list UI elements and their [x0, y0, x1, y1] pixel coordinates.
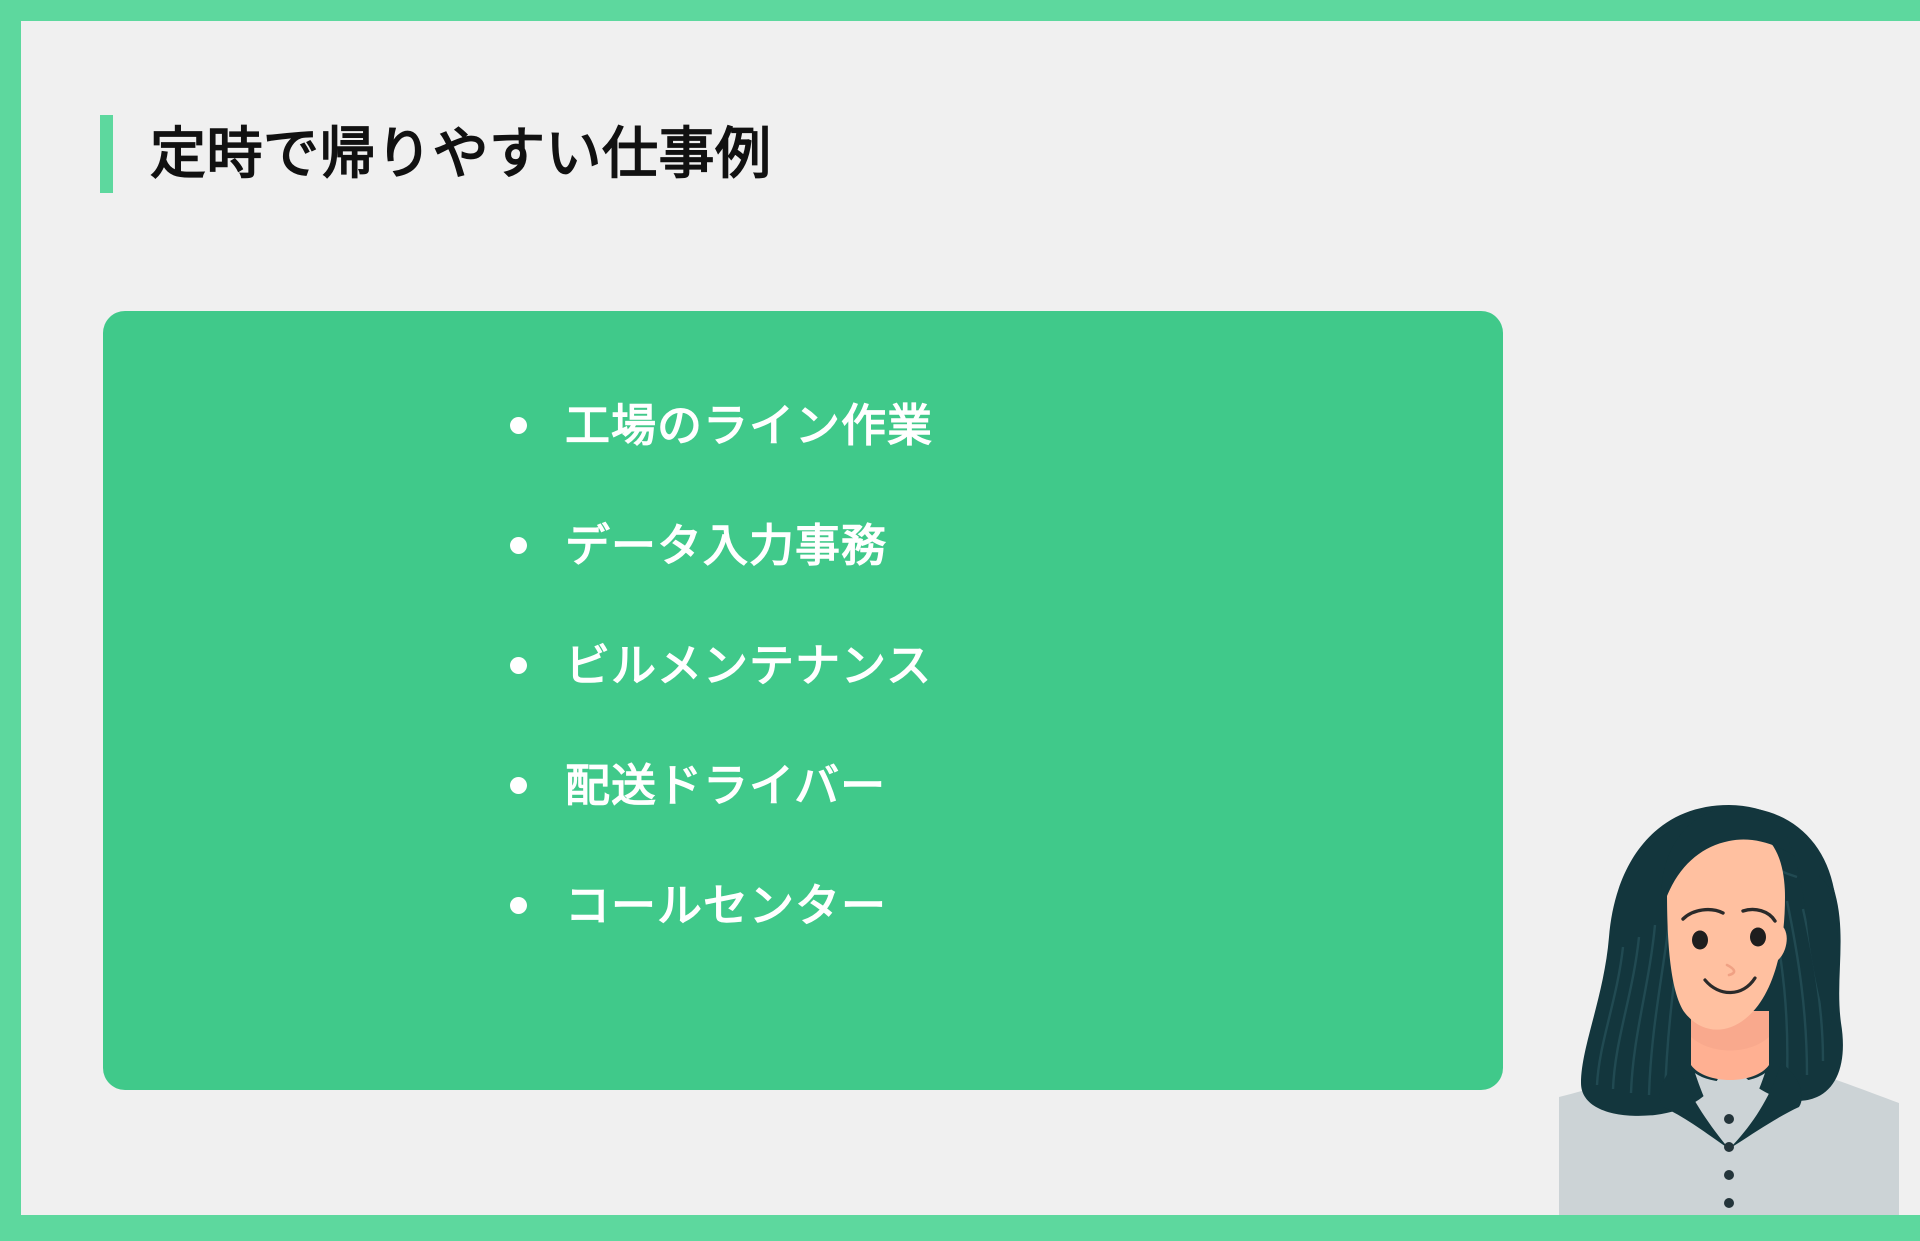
woman-illustration-icon — [1559, 797, 1899, 1215]
bullet-dot-icon — [510, 537, 527, 554]
slide-root: 定時で帰りやすい仕事例 工場のライン作業 データ入力事務 ビルメンテナンス 配送… — [0, 0, 1920, 1241]
list-item-label: データ入力事務 — [565, 523, 887, 568]
bullet-dot-icon — [510, 657, 527, 674]
frame-left-border — [0, 0, 21, 1241]
bullet-dot-icon — [510, 897, 527, 914]
jobs-card: 工場のライン作業 データ入力事務 ビルメンテナンス 配送ドライバー コールセンタ… — [103, 311, 1503, 1090]
bullet-dot-icon — [510, 777, 527, 794]
title-accent-bar — [100, 115, 113, 193]
bullet-dot-icon — [510, 417, 527, 434]
frame-bottom-border — [0, 1215, 1920, 1241]
page-title: 定時で帰りやすい仕事例 — [150, 126, 772, 182]
list-item-label: コールセンター — [565, 883, 887, 928]
list-item: ビルメンテナンス — [510, 605, 933, 725]
frame-top-border — [0, 0, 1920, 21]
list-item: データ入力事務 — [510, 485, 933, 605]
list-item-label: ビルメンテナンス — [565, 643, 932, 688]
list-item: 配送ドライバー — [510, 725, 933, 845]
jobs-list: 工場のライン作業 データ入力事務 ビルメンテナンス 配送ドライバー コールセンタ… — [510, 365, 933, 965]
page-title-row: 定時で帰りやすい仕事例 — [100, 114, 772, 194]
list-item-label: 工場のライン作業 — [565, 403, 933, 448]
list-item: コールセンター — [510, 845, 933, 965]
list-item-label: 配送ドライバー — [565, 763, 886, 808]
list-item: 工場のライン作業 — [510, 365, 933, 485]
avatar — [1559, 797, 1899, 1215]
